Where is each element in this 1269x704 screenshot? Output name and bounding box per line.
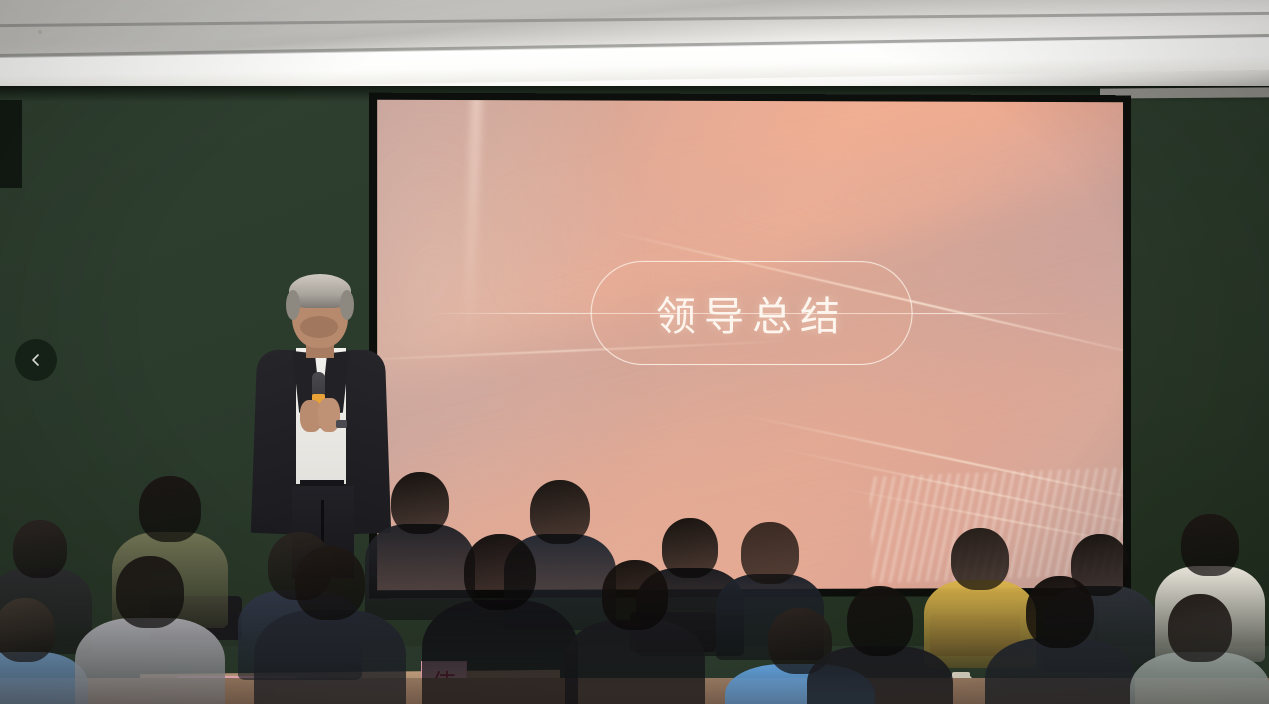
ceiling-fixture-dot [38, 30, 42, 34]
previous-slide-button[interactable] [15, 339, 57, 381]
projection-screen: 领导总结 [377, 100, 1123, 591]
attendee-17 [807, 586, 953, 704]
attendee-head [139, 476, 201, 542]
attendee-body [75, 618, 225, 704]
attendee-head [741, 522, 799, 584]
presenter-hair-side [340, 290, 354, 320]
conference-room-photo: 领导总结 伟 [0, 0, 1269, 704]
presenter-hair-side [286, 290, 300, 320]
slide-title: 领导总结 [656, 284, 848, 342]
attendee-head [602, 560, 668, 630]
attendee-body [422, 600, 578, 704]
attendee-head [1026, 576, 1094, 648]
attendee-13 [254, 546, 406, 704]
wall-speaker-panel [0, 100, 22, 188]
slide-light-streak [463, 100, 481, 345]
attendee-head [295, 546, 365, 620]
ceiling [0, 0, 1269, 96]
attendee-19 [1130, 594, 1269, 704]
slide-title-pill: 领导总结 [591, 261, 913, 365]
attendee-15 [565, 560, 705, 704]
attendee-head [0, 598, 55, 662]
attendee-head [13, 520, 67, 578]
ceiling-rail [0, 12, 1269, 27]
attendee-head [1181, 514, 1239, 576]
attendee-head [464, 534, 536, 610]
attendee-18 [985, 576, 1135, 704]
presenter-wristwatch [336, 420, 347, 428]
chevron-left-icon [28, 352, 44, 368]
presenter-face-shadow [300, 316, 338, 338]
attendee-head [1168, 594, 1232, 662]
attendee-body [565, 620, 705, 704]
attendee-body [254, 610, 406, 704]
attendee-14 [422, 534, 578, 704]
attendee-head [116, 556, 184, 628]
attendee-head [391, 472, 449, 534]
attendee-head [847, 586, 913, 656]
attendee-12 [75, 556, 225, 704]
